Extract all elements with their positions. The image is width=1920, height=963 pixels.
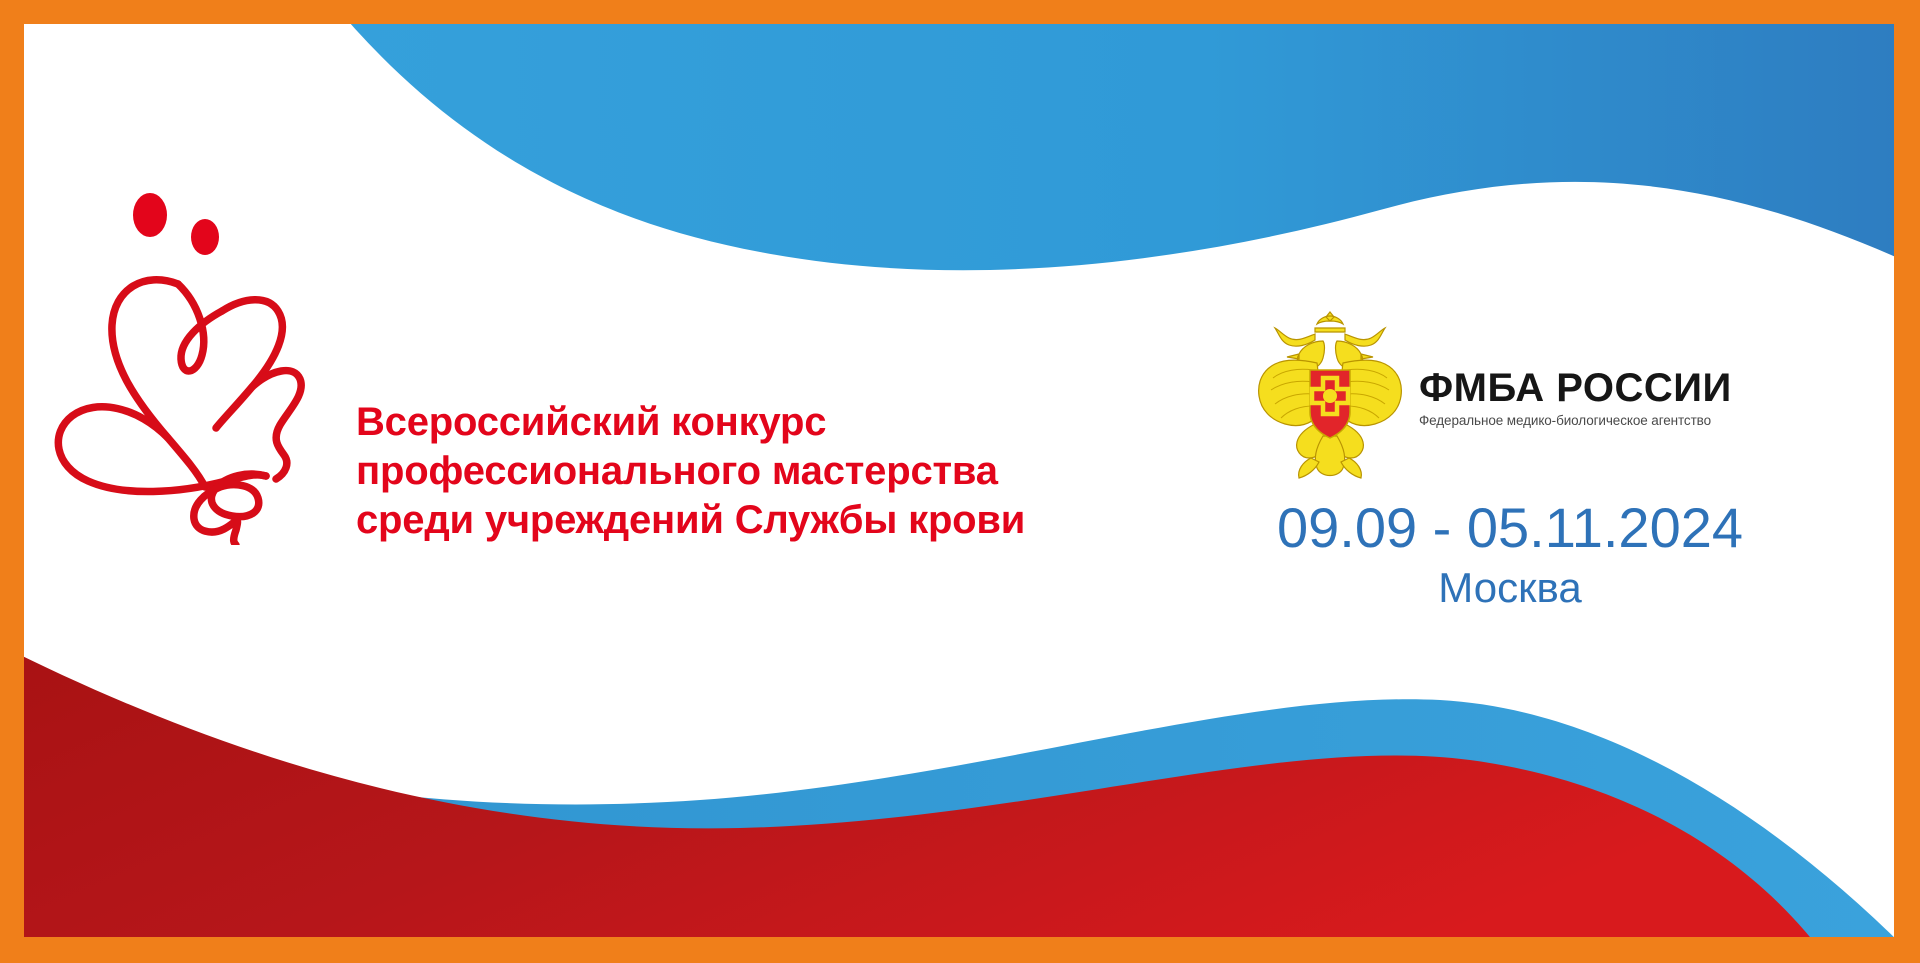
logo-right-heart-stroke bbox=[216, 300, 282, 428]
fmba-subtitle: Федеральное медико-биологическое агентст… bbox=[1419, 412, 1732, 430]
fmba-logo-block: ФМБА РОССИИ Федеральное медико-биологиче… bbox=[1255, 305, 1815, 485]
blood-service-heart-icon bbox=[58, 193, 301, 545]
blood-service-logo bbox=[40, 185, 320, 545]
title-line-3: среди учреждений Службы крови bbox=[356, 496, 1036, 545]
event-date-block: 09.09 - 05.11.2024 Москва bbox=[1200, 498, 1820, 614]
logo-left-heart-stroke bbox=[112, 280, 205, 487]
frame-border-top bbox=[0, 0, 1920, 24]
logo-dot-large bbox=[133, 193, 167, 237]
frame-border-right bbox=[1894, 0, 1920, 963]
title-line-1: Всероссийский конкурс bbox=[356, 398, 1036, 447]
emblem-ribbon-right bbox=[1345, 328, 1385, 346]
emblem-tail-center bbox=[1315, 436, 1344, 476]
emblem-crown bbox=[1315, 312, 1345, 332]
emblem-tail-plume-left bbox=[1299, 458, 1319, 478]
emblem-ribbon-left bbox=[1275, 328, 1315, 346]
event-banner: Всероссийский конкурс профессионального … bbox=[0, 0, 1920, 963]
frame-border-left bbox=[0, 0, 24, 963]
title-line-2: профессионального мастерства bbox=[356, 447, 1036, 496]
banner-title: Всероссийский конкурс профессионального … bbox=[356, 398, 1036, 545]
logo-heart-inner-loop bbox=[178, 284, 222, 371]
fmba-name: ФМБА РОССИИ bbox=[1419, 367, 1732, 409]
russian-double-headed-eagle-emblem bbox=[1255, 308, 1405, 483]
logo-right-arm-stroke bbox=[252, 371, 301, 479]
logo-dot-small bbox=[191, 219, 219, 255]
fmba-text-block: ФМБА РОССИИ Федеральное медико-биологиче… bbox=[1419, 361, 1732, 430]
emblem-cross-center-dot bbox=[1323, 389, 1337, 403]
event-city: Москва bbox=[1200, 562, 1820, 614]
event-date-range: 09.09 - 05.11.2024 bbox=[1200, 498, 1820, 558]
emblem-tail-plume-right bbox=[1341, 458, 1361, 478]
frame-border-bottom bbox=[0, 937, 1920, 963]
